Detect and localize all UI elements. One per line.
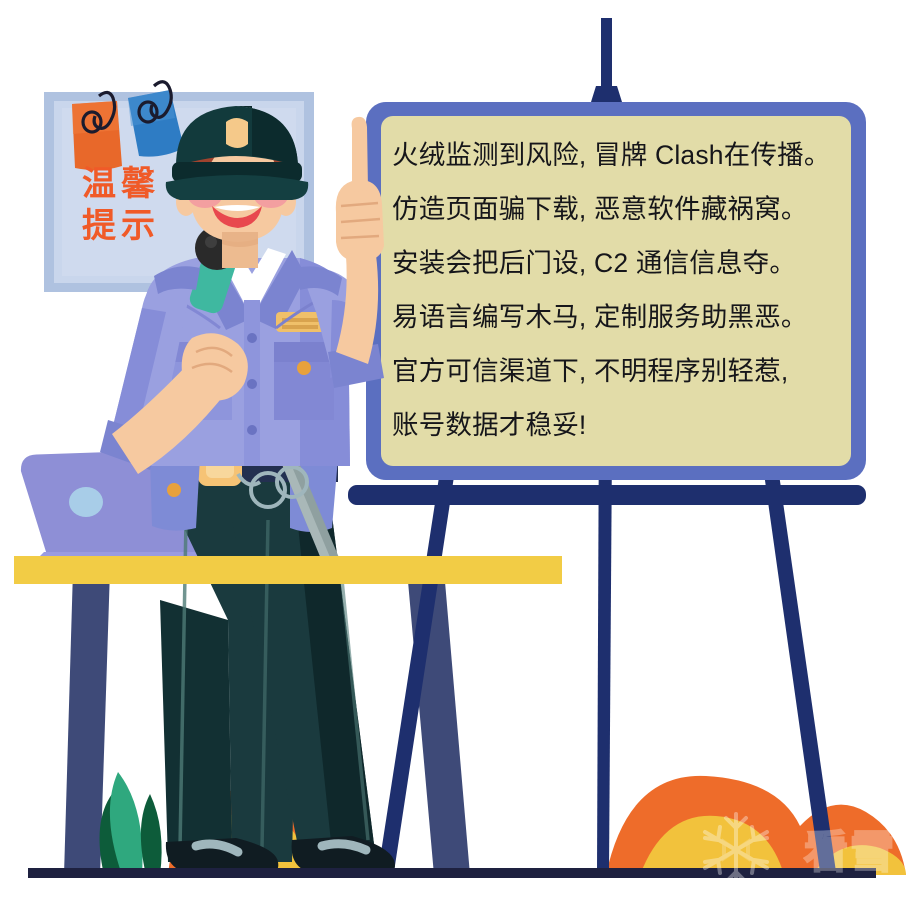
desk-top [14,556,562,584]
scene-artwork [0,0,906,906]
orange-note [72,92,122,170]
illustration-canvas: 温馨 提示 火绒监测到风险, 冒牌 Clash在传播。 仿造页面骗下载, 恶意软… [0,0,906,906]
pants [160,478,374,862]
ground-line [28,868,876,878]
easel-board [366,102,866,480]
